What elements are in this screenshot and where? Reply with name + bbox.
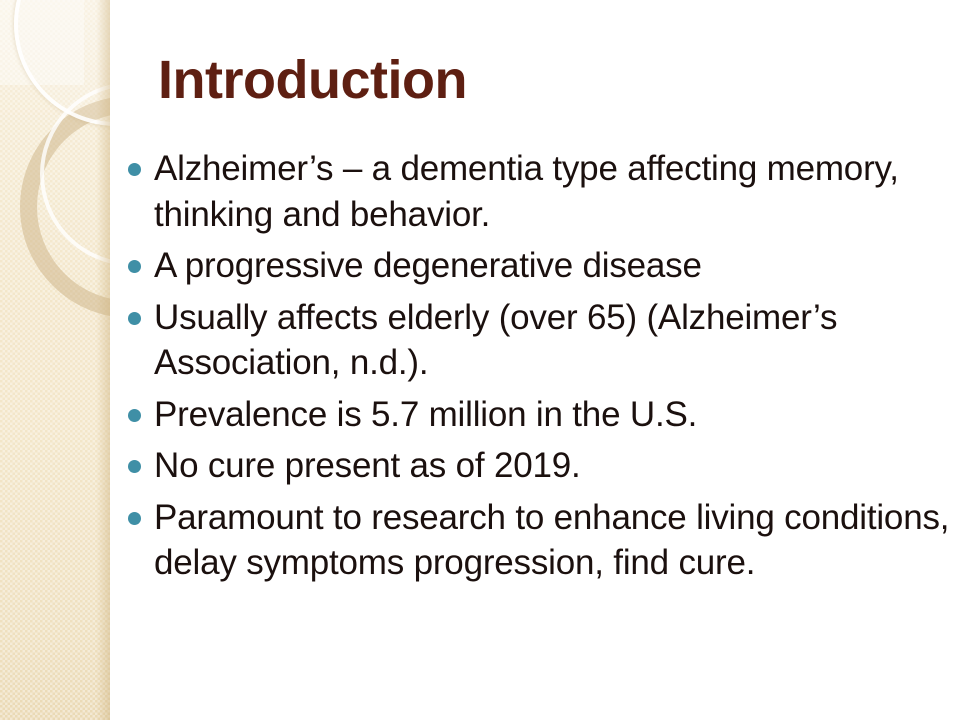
list-item: Paramount to research to enhance living … — [120, 495, 950, 586]
list-item: Alzheimer’s – a dementia type affecting … — [120, 146, 950, 237]
bullet-dot-icon — [128, 163, 141, 176]
list-item-text: Usually affects elderly (over 65) (Alzhe… — [154, 295, 950, 386]
list-item: Usually affects elderly (over 65) (Alzhe… — [120, 295, 950, 386]
sidebar-edge-shading — [96, 0, 110, 720]
list-item-text: Prevalence is 5.7 million in the U.S. — [154, 392, 950, 438]
list-item-text: A progressive degenerative disease — [154, 243, 950, 289]
list-item: No cure present as of 2019. — [120, 443, 950, 489]
list-item: A progressive degenerative disease — [120, 243, 950, 289]
bullet-dot-icon — [128, 460, 141, 473]
list-item-text: Paramount to research to enhance living … — [154, 495, 950, 586]
bullet-list: Alzheimer’s – a dementia type affecting … — [120, 146, 950, 592]
bullet-dot-icon — [128, 260, 141, 273]
list-item-text: No cure present as of 2019. — [154, 443, 950, 489]
bullet-dot-icon — [128, 512, 141, 525]
list-item-text: Alzheimer’s – a dementia type affecting … — [154, 146, 950, 237]
slide-content: Introduction Alzheimer’s – a dementia ty… — [110, 0, 960, 720]
bullet-dot-icon — [128, 409, 141, 422]
decorative-sidebar — [0, 0, 110, 720]
page-title: Introduction — [158, 52, 467, 109]
slide: Introduction Alzheimer’s – a dementia ty… — [0, 0, 960, 720]
list-item: Prevalence is 5.7 million in the U.S. — [120, 392, 950, 438]
bullet-dot-icon — [128, 312, 141, 325]
